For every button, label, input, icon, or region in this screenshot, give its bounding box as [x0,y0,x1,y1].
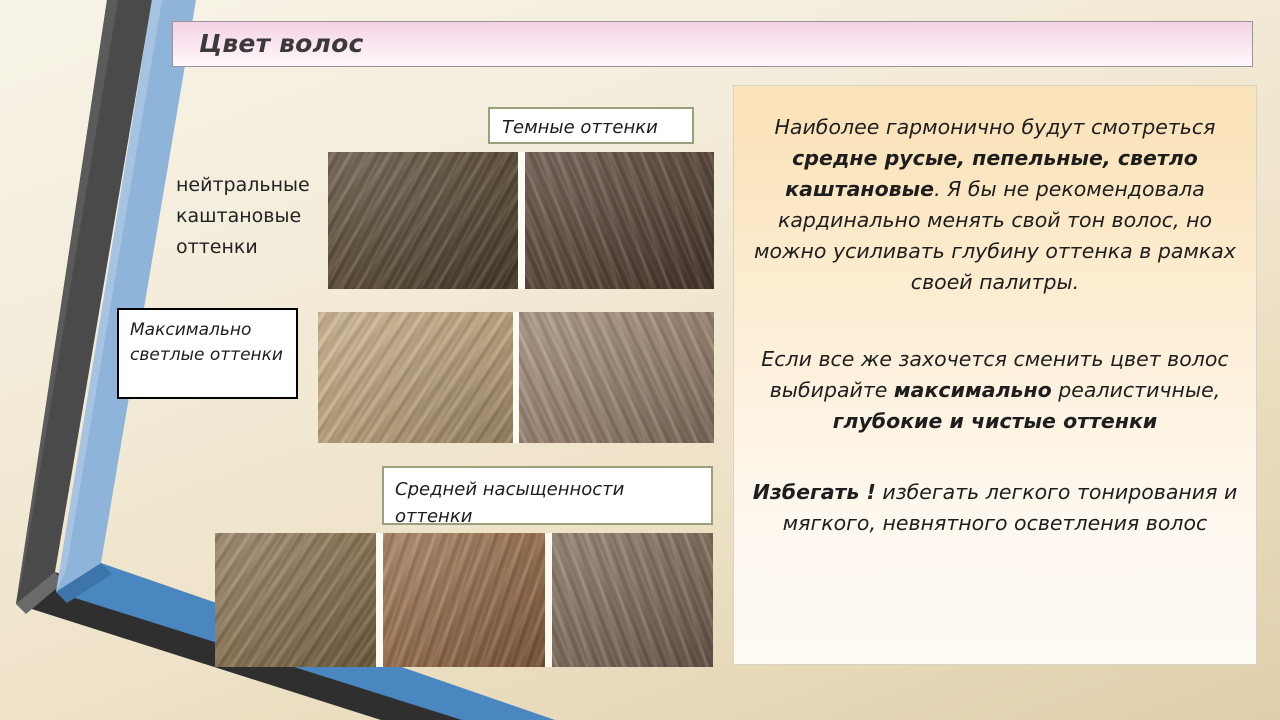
swatch-copper-brown [383,533,544,667]
blue-ribbon-upper-shade [56,0,162,592]
caption-dark-shades: Темные оттенки [488,107,694,144]
swatch-group-dark [328,152,714,289]
caption-neutral-chestnut: нейтральные каштановые оттенки [176,170,336,263]
caption-lightest-shades: Максимально светлые оттенки [117,308,298,399]
advice-paragraph-1: Наиболее гармонично будут смотреться сре… [748,112,1242,298]
swatch-cool-ash-brown [552,533,713,667]
blue-ribbon-upper [56,0,196,592]
swatch-group-medium [215,533,713,667]
dark-ribbon-lower-highlight [16,572,64,614]
swatch-cool-dark-brown [525,152,715,289]
advice-text-panel: Наиболее гармонично будут смотреться сре… [733,85,1257,665]
dark-ribbon-upper [16,0,152,604]
swatch-group-lightest [318,312,714,443]
caption-medium-shades: Средней насыщенности оттенки [382,466,713,525]
blue-ribbon-lower-highlight [56,563,112,603]
swatch-warm-light-brown [215,533,376,667]
page-title: Цвет волос [199,29,363,58]
advice-paragraph-3: Избегать ! избегать легкого тонирования … [748,477,1242,539]
swatch-light-blonde [318,312,513,443]
slide-canvas: Цвет волос нейтральные каштановые оттенк… [0,0,1280,720]
dark-ribbon-upper-shade [16,0,118,604]
slide-title-banner: Цвет волос [172,21,1253,67]
swatch-warm-dark-brown [328,152,518,289]
advice-paragraph-2: Если все же захочется сменить цвет волос… [748,344,1242,437]
swatch-light-ash-brown [519,312,714,443]
